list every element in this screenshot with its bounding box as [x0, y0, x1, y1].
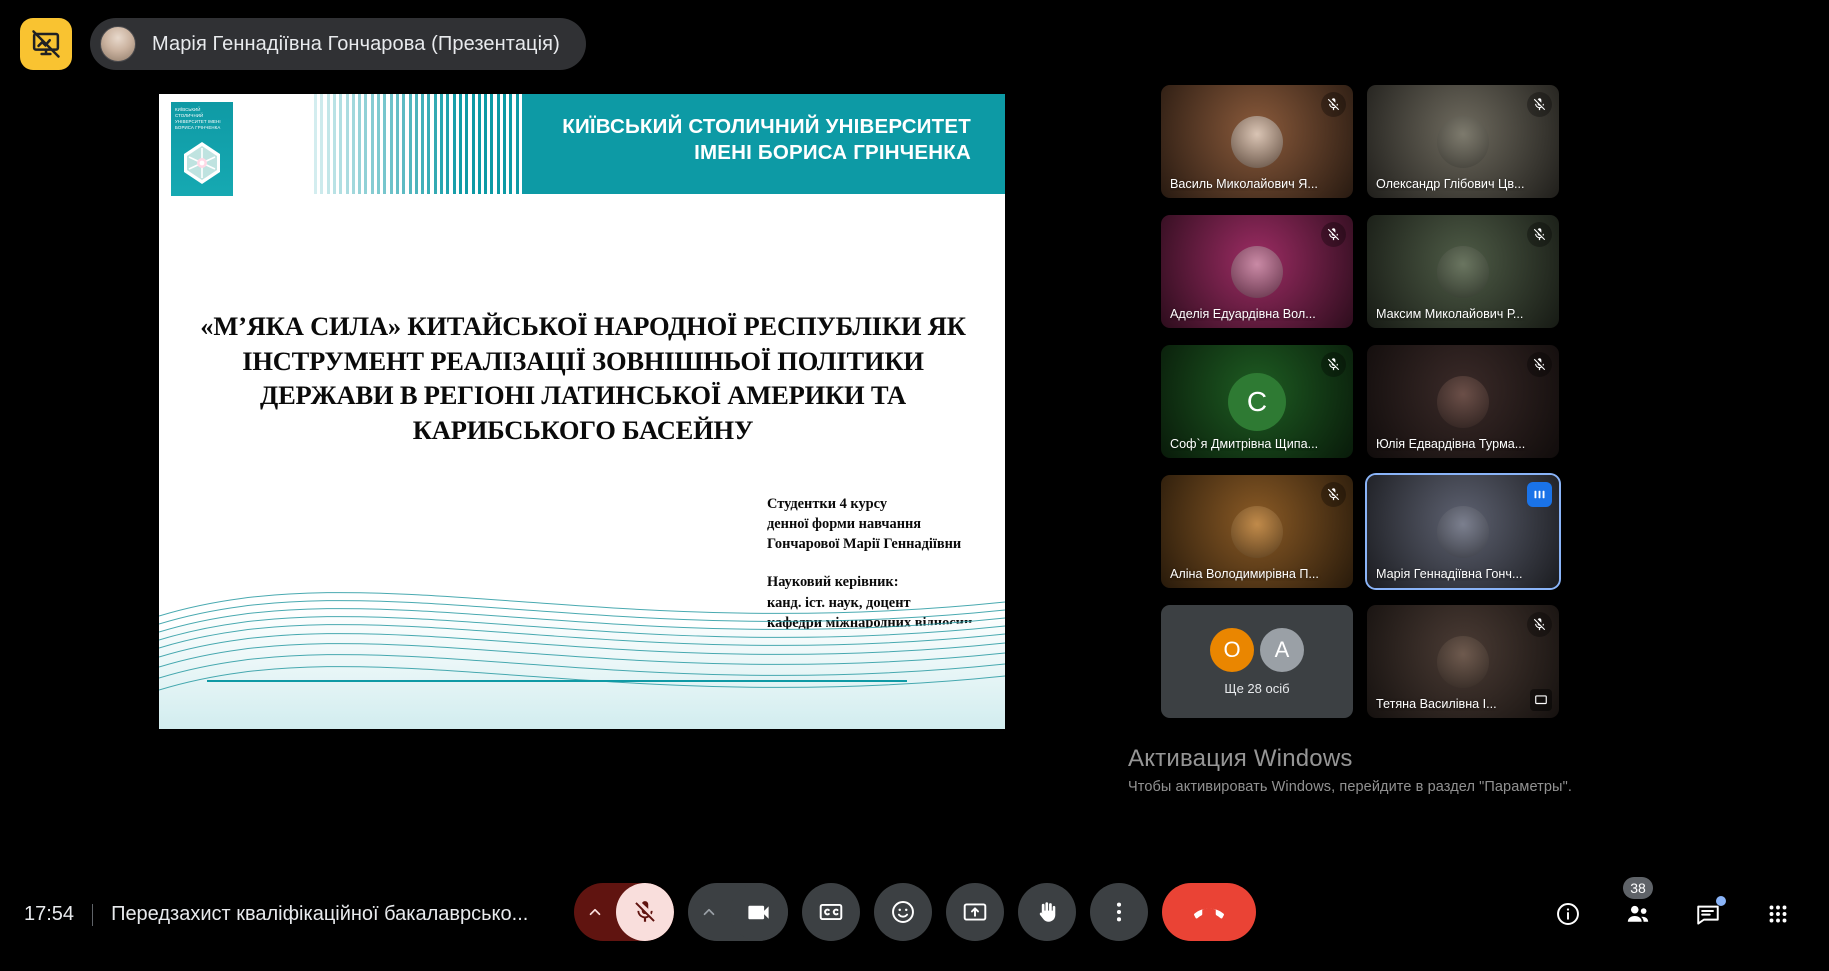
- closed-captions-icon: [818, 899, 844, 925]
- chat-unread-dot: [1716, 896, 1726, 906]
- avatar-initial: А: [1260, 628, 1304, 672]
- meeting-details-button[interactable]: [1547, 893, 1589, 935]
- mic-off-icon: [1527, 222, 1552, 247]
- more-participants-label: Ще 28 осіб: [1224, 681, 1289, 696]
- avatar: [1437, 506, 1489, 558]
- emoji-smiley-icon: [890, 899, 916, 925]
- participant-name: Аліна Володимирівна П...: [1170, 567, 1327, 581]
- participant-tile[interactable]: Максим Миколайович Р...: [1367, 215, 1559, 328]
- clock: 17:54: [24, 903, 74, 926]
- slide-header-band: КИЇВСЬКИЙ СТОЛИЧНИЙ УНІВЕРСИТЕТ ІМЕНІ БО…: [159, 94, 1005, 194]
- avatar: [100, 26, 136, 62]
- camera-options-caret[interactable]: [688, 883, 730, 941]
- shared-screen-stage[interactable]: КИЇВСЬКИЙ СТОЛИЧНИЙ УНІВЕРСИТЕТ ІМЕНІ БО…: [18, 94, 1145, 729]
- camera-button[interactable]: [688, 883, 788, 941]
- avatar: [1437, 636, 1489, 688]
- decorative-waves: [159, 524, 1005, 729]
- activities-button[interactable]: [1757, 893, 1799, 935]
- presenting-indicator-icon: [1527, 482, 1552, 507]
- info-circle-icon: [1555, 901, 1581, 927]
- chat-button[interactable]: [1687, 893, 1729, 935]
- more-options-button[interactable]: [1090, 883, 1148, 941]
- participant-name: Василь Миколайович Я...: [1170, 177, 1327, 191]
- divider: [92, 904, 93, 926]
- participants-button[interactable]: 38: [1617, 893, 1659, 935]
- participant-tile[interactable]: Юлія Едвардівна Турма...: [1367, 345, 1559, 458]
- watermark-subtitle: Чтобы активировать Windows, перейдите в …: [1128, 779, 1598, 795]
- mic-off-icon: [1527, 352, 1552, 377]
- present-button[interactable]: [946, 883, 1004, 941]
- mic-off-icon: [1321, 352, 1346, 377]
- call-controls: [574, 883, 1256, 941]
- participant-name: Соф`я Дмитрівна Щипа...: [1170, 437, 1327, 451]
- slide-title: «М’ЯКА СИЛА» КИТАЙСЬКОЇ НАРОДНОЇ РЕСПУБЛ…: [181, 309, 985, 447]
- right-controls: 38: [1547, 893, 1799, 935]
- present-screen-icon: [962, 899, 988, 925]
- participant-name: Аделія Едуардівна Вол...: [1170, 307, 1327, 321]
- avatar: [1231, 116, 1283, 168]
- bottom-toolbar: 17:54 Передзахист кваліфікаційної бакала…: [0, 853, 1829, 971]
- logo-caption: КИЇВСЬКИЙ СТОЛИЧНИЙ УНІВЕРСИТЕТ ІМЕНІ БО…: [171, 102, 233, 131]
- people-icon: [1625, 901, 1651, 927]
- avatar: [1437, 246, 1489, 298]
- reactions-button[interactable]: [874, 883, 932, 941]
- presenter-name: Марія Геннадіївна Гончарова (Презентація…: [152, 33, 560, 56]
- participant-name: Олександр Глібович Цв...: [1376, 177, 1533, 191]
- participant-tile[interactable]: Тетяна Василівна І...: [1367, 605, 1559, 718]
- watermark-title: Активация Windows: [1128, 745, 1598, 773]
- participant-tile[interactable]: Аделія Едуардівна Вол...: [1161, 215, 1353, 328]
- mic-off-icon: [1321, 92, 1346, 117]
- avatar-initial: С: [1228, 373, 1286, 431]
- participant-tile[interactable]: Марія Геннадіївна Гонч...: [1367, 475, 1559, 588]
- avatar: [1437, 376, 1489, 428]
- top-bar: Марія Геннадіївна Гончарова (Презентація…: [0, 0, 1829, 88]
- participant-name: Максим Миколайович Р...: [1376, 307, 1533, 321]
- video-camera-icon[interactable]: [730, 883, 788, 941]
- more-vertical-icon: [1106, 899, 1132, 925]
- participant-count-badge: 38: [1623, 877, 1653, 899]
- avatar: [1231, 246, 1283, 298]
- screen-share-icon: [1530, 689, 1552, 711]
- participant-name: Юлія Едвардівна Турма...: [1376, 437, 1533, 451]
- participant-tile[interactable]: Василь Миколайович Я...: [1161, 85, 1353, 198]
- participant-tile[interactable]: ССоф`я Дмитрівна Щипа...: [1161, 345, 1353, 458]
- captions-button[interactable]: [802, 883, 860, 941]
- meeting-window: Марія Геннадіївна Гончарова (Презентація…: [0, 0, 1829, 971]
- hang-up-icon: [1194, 897, 1224, 927]
- presentation-slide: КИЇВСЬКИЙ СТОЛИЧНИЙ УНІВЕРСИТЕТ ІМЕНІ БО…: [159, 94, 1005, 729]
- participant-tile[interactable]: Аліна Володимирівна П...: [1161, 475, 1353, 588]
- mic-options-caret[interactable]: [574, 883, 616, 941]
- mic-off-icon[interactable]: [616, 883, 674, 941]
- logo-emblem-icon: [180, 140, 224, 186]
- presentation-off-icon[interactable]: [20, 18, 72, 70]
- meeting-title: Передзахист кваліфікаційної бакалаврсько…: [111, 903, 528, 926]
- mic-off-icon: [1321, 222, 1346, 247]
- participant-name: Марія Геннадіївна Гонч...: [1376, 567, 1533, 581]
- raise-hand-button[interactable]: [1018, 883, 1076, 941]
- mic-off-button[interactable]: [574, 883, 674, 941]
- avatar: [1231, 506, 1283, 558]
- avatar-initial: О: [1210, 628, 1254, 672]
- windows-activation-watermark: Активация Windows Чтобы активировать Win…: [1128, 745, 1598, 795]
- participant-tile[interactable]: Олександр Глібович Цв...: [1367, 85, 1559, 198]
- accent-rule: [207, 680, 907, 682]
- participant-grid: Василь Миколайович Я...Олександр Глібови…: [1161, 85, 1572, 745]
- avatar: [1437, 116, 1489, 168]
- meeting-meta: 17:54 Передзахист кваліфікаційної бакала…: [24, 903, 528, 926]
- mic-off-icon: [1527, 612, 1552, 637]
- university-logo: КИЇВСЬКИЙ СТОЛИЧНИЙ УНІВЕРСИТЕТ ІМЕНІ БО…: [169, 100, 235, 198]
- participant-name: Тетяна Василівна І...: [1376, 697, 1533, 711]
- grid-apps-icon: [1765, 901, 1791, 927]
- mic-off-icon: [1527, 92, 1552, 117]
- university-header: КИЇВСЬКИЙ СТОЛИЧНИЙ УНІВЕРСИТЕТ ІМЕНІ БО…: [541, 114, 971, 166]
- mic-off-icon: [1321, 482, 1346, 507]
- raised-hand-icon: [1034, 899, 1060, 925]
- end-call-button[interactable]: [1162, 883, 1256, 941]
- more-participants-tile[interactable]: ОАЩе 28 осіб: [1161, 605, 1353, 718]
- presenter-chip[interactable]: Марія Геннадіївна Гончарова (Презентація…: [90, 18, 586, 70]
